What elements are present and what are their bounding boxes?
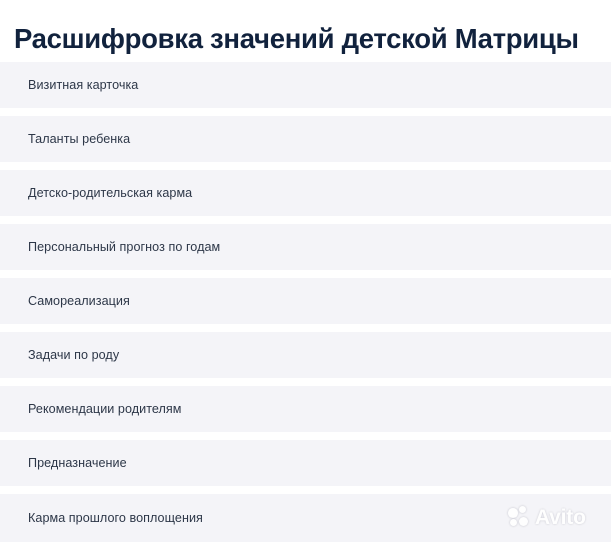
- list-item[interactable]: Рекомендации родителям: [0, 386, 611, 432]
- list-item-label: Таланты ребенка: [0, 133, 130, 146]
- list-item[interactable]: Задачи по роду: [0, 332, 611, 378]
- list-item[interactable]: Предназначение: [0, 440, 611, 486]
- list-item-label: Детско-родительская карма: [0, 187, 192, 200]
- list-item-label: Задачи по роду: [0, 349, 119, 362]
- list-item[interactable]: Детско-родительская карма: [0, 170, 611, 216]
- list-item[interactable]: Персональный прогноз по годам: [0, 224, 611, 270]
- list-item-label: Рекомендации родителям: [0, 403, 182, 416]
- list-item-label: Предназначение: [0, 457, 127, 470]
- list-item-label: Самореализация: [0, 295, 130, 308]
- page-root: Расшифровка значений детской Матрицы Виз…: [0, 0, 611, 540]
- list-item[interactable]: Таланты ребенка: [0, 116, 611, 162]
- list-item-label: Визитная карточка: [0, 79, 138, 92]
- list-item[interactable]: Самореализация: [0, 278, 611, 324]
- list-item-label: Карма прошлого воплощения: [0, 512, 203, 525]
- list-item[interactable]: Карма прошлого воплощения: [0, 494, 611, 542]
- page-title: Расшифровка значений детской Матрицы: [14, 20, 611, 60]
- decode-list: Визитная карточка Таланты ребенка Детско…: [0, 62, 611, 542]
- list-item[interactable]: Визитная карточка: [0, 62, 611, 108]
- list-item-label: Персональный прогноз по годам: [0, 241, 220, 254]
